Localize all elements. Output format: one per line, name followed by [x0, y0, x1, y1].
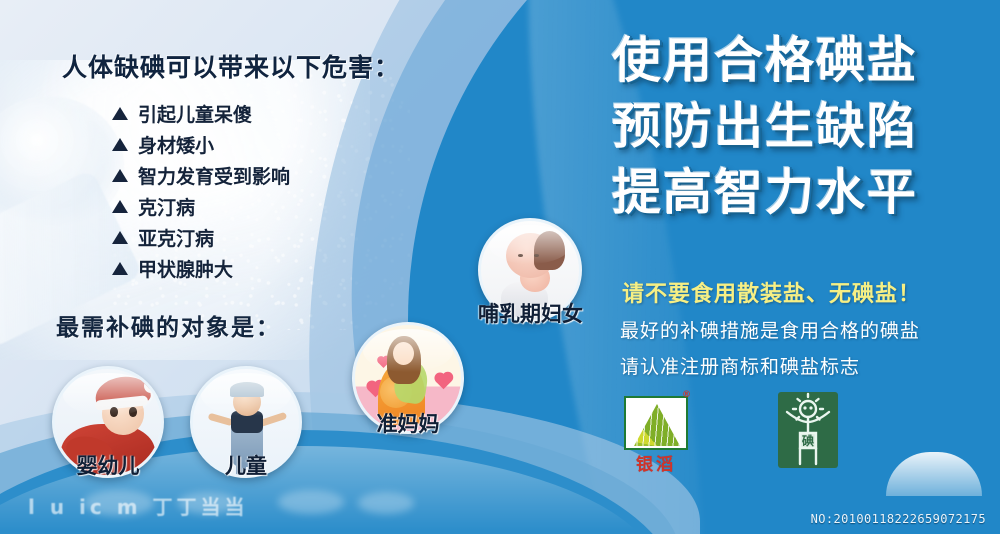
iodized-salt-mark-icon: 碘 — [778, 392, 838, 468]
brand-logo-name: 银滔 — [624, 450, 688, 475]
note-line-2: 请认准注册商标和碘盐标志 — [620, 352, 860, 379]
triangle-bullet-icon — [112, 138, 128, 151]
registered-mark-icon: ® — [682, 390, 691, 400]
watermark: l u ic m 丁丁当当 — [28, 488, 448, 522]
badge-child-label: 儿童 — [190, 450, 302, 480]
triangle-bullet-icon — [112, 107, 128, 120]
headline-block: 使用合格碘盐 预防出生缺陷 提高智力水平 — [612, 28, 1000, 226]
iodine-character: 碘 — [801, 433, 814, 448]
badge-nursing-label: 哺乳期妇女 — [478, 298, 582, 328]
harm-list-item-label: 甲状腺肿大 — [138, 255, 233, 282]
triangle-bullet-icon — [112, 200, 128, 213]
badge-infant-label: 婴幼儿 — [52, 450, 164, 480]
harm-list: 引起儿童呆傻 身材矮小 智力发育受到影响 克汀病 亚克汀病 甲状腺肿大 — [112, 98, 290, 284]
serial-number: NO:20100118222659072175 — [811, 512, 986, 526]
iodine-health-poster: 人体缺碘可以带来以下危害： 引起儿童呆傻 身材矮小 智力发育受到影响 克汀病 亚… — [0, 0, 1000, 534]
salt-fan-icon — [624, 396, 688, 450]
harm-list-item: 克汀病 — [112, 191, 290, 222]
harm-list-item-label: 引起儿童呆傻 — [138, 100, 252, 127]
warning-text: 请不要食用散装盐、无碘盐！ — [622, 276, 921, 308]
badge-pregnant: 准妈妈 — [352, 322, 464, 434]
headline-line-3: 提高智力水平 — [612, 160, 1000, 226]
triangle-bullet-icon — [112, 231, 128, 244]
target-group-section-title: 最需补碘的对象是： — [56, 308, 281, 342]
triangle-bullet-icon — [112, 169, 128, 182]
headline-line-2: 预防出生缺陷 — [612, 94, 1000, 160]
headline-line-1: 使用合格碘盐 — [612, 28, 1000, 94]
harm-list-item: 亚克汀病 — [112, 222, 290, 253]
harm-list-item: 甲状腺肿大 — [112, 253, 290, 284]
harm-list-item-label: 克汀病 — [138, 193, 195, 220]
harm-list-item: 引起儿童呆傻 — [112, 98, 290, 129]
triangle-bullet-icon — [112, 262, 128, 275]
badge-infant: 婴幼儿 — [52, 366, 164, 478]
note-line-1: 最好的补碘措施是食用合格的碘盐 — [620, 316, 920, 343]
badge-nursing: 哺乳期妇女 — [478, 218, 582, 322]
badge-pregnant-label: 准妈妈 — [352, 408, 464, 438]
harm-list-item-label: 智力发育受到影响 — [138, 162, 290, 189]
harm-list-item: 智力发育受到影响 — [112, 160, 290, 191]
harm-list-item-label: 亚克汀病 — [138, 224, 214, 251]
harm-list-item: 身材矮小 — [112, 129, 290, 160]
badge-child: 儿童 — [190, 366, 302, 478]
harm-list-item-label: 身材矮小 — [138, 131, 214, 158]
brand-logo: ® 银滔 — [624, 396, 688, 474]
harm-section-title: 人体缺碘可以带来以下危害： — [62, 48, 400, 84]
